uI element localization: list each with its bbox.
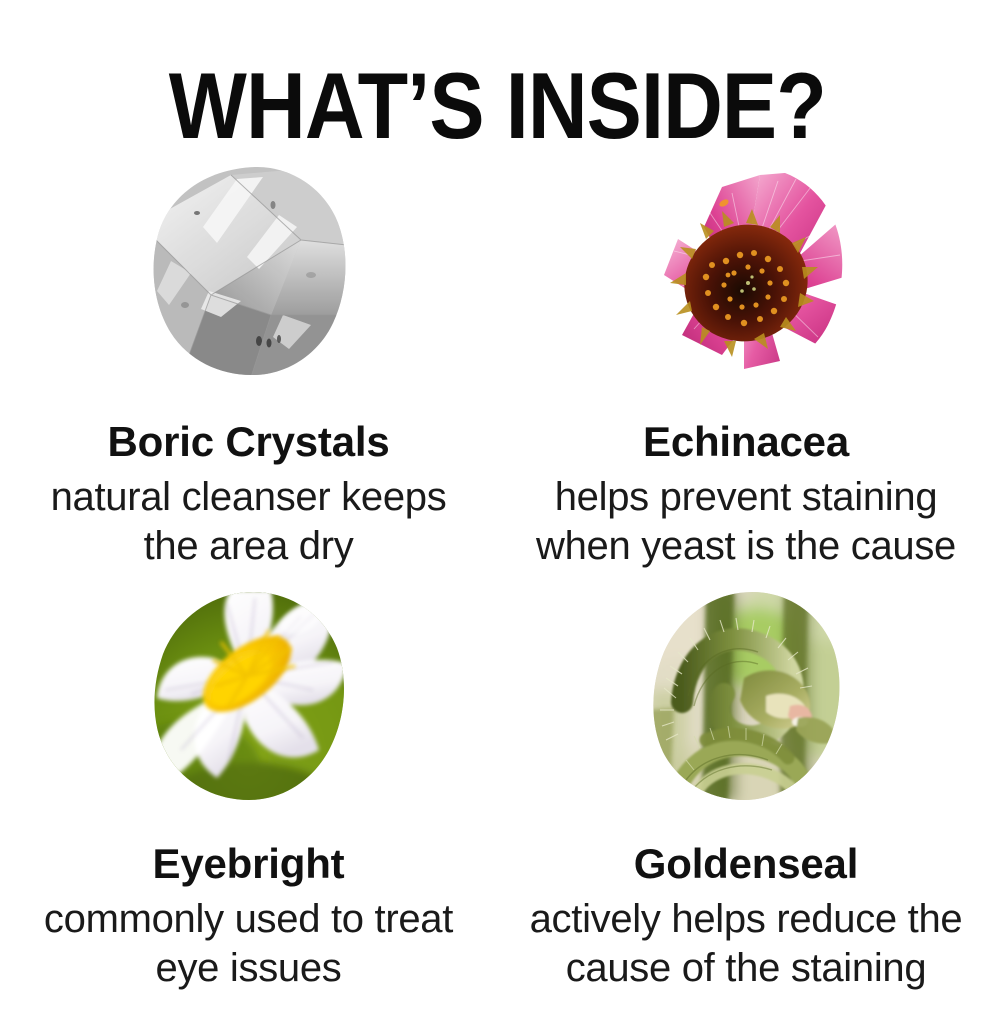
ingredient-name: Eyebright bbox=[0, 839, 497, 889]
ingredient-description: commonly used to treat eye issues bbox=[0, 895, 497, 993]
ingredient-description: helps prevent staining when yeast is the… bbox=[497, 473, 995, 571]
echinacea-text: Echinacea helps prevent staining when ye… bbox=[497, 417, 995, 571]
goldenseal-text: Goldenseal actively helps reduce the cau… bbox=[497, 839, 995, 993]
ingredient-grid: Boric Crystals natural cleanser keeps th… bbox=[0, 120, 995, 1024]
eyebright-text: Eyebright commonly used to treat eye iss… bbox=[0, 839, 497, 993]
boric-crystals-photo bbox=[151, 165, 347, 377]
echinacea-photo bbox=[648, 165, 844, 377]
ingredient-description: actively helps reduce the cause of the s… bbox=[497, 895, 995, 993]
goldenseal-photo bbox=[648, 590, 844, 802]
ingredient-card-goldenseal: Goldenseal actively helps reduce the cau… bbox=[497, 572, 995, 1024]
infographic-page: WHAT’S INSIDE? bbox=[0, 0, 995, 1024]
boric-crystals-text: Boric Crystals natural cleanser keeps th… bbox=[0, 417, 497, 571]
ingredient-card-echinacea: Echinacea helps prevent staining when ye… bbox=[497, 120, 995, 572]
ingredient-card-boric-crystals: Boric Crystals natural cleanser keeps th… bbox=[0, 120, 497, 572]
ingredient-name: Echinacea bbox=[497, 417, 995, 467]
eyebright-photo bbox=[151, 590, 347, 802]
ingredient-card-eyebright: Eyebright commonly used to treat eye iss… bbox=[0, 572, 497, 1024]
ingredient-name: Boric Crystals bbox=[0, 417, 497, 467]
ingredient-description: natural cleanser keeps the area dry bbox=[0, 473, 497, 571]
ingredient-name: Goldenseal bbox=[497, 839, 995, 889]
